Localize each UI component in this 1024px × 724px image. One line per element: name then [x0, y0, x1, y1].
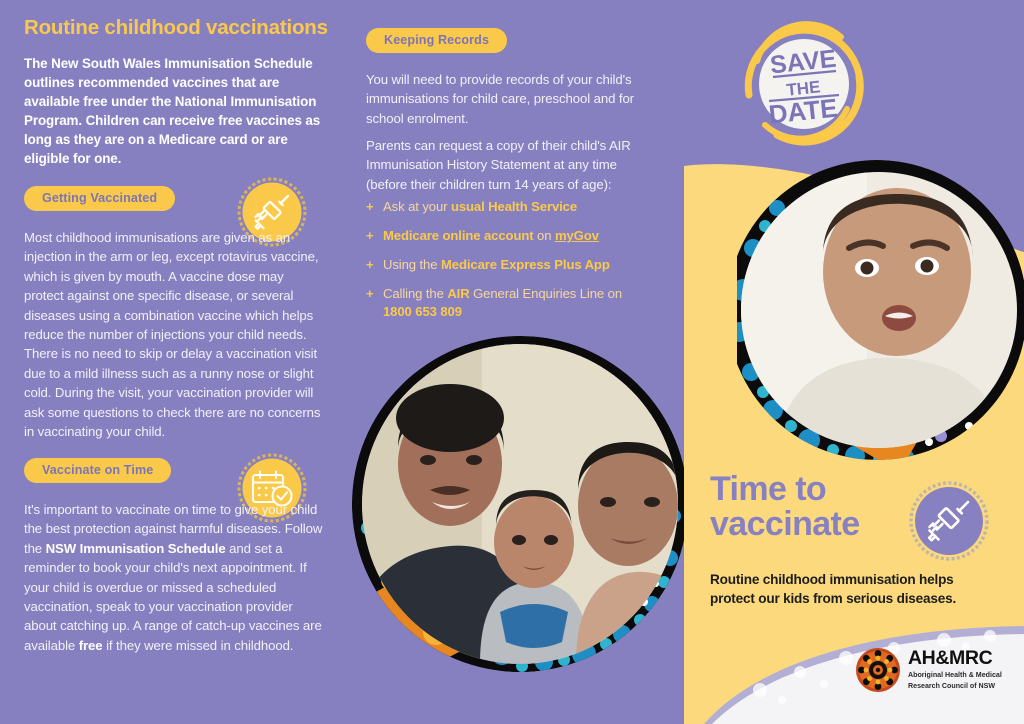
section-pill-label: Getting Vaccinated [24, 186, 175, 211]
left-column: Routine childhood vaccinations The New S… [24, 16, 334, 168]
logo-sub-line2: Research Council of NSW [908, 682, 1002, 691]
plus-bullet-icon: + [366, 257, 374, 274]
tagline-text: Routine childhood immunisation helps pro… [710, 571, 985, 608]
time-to-vaccinate-headline: Time tovaccinate [710, 472, 910, 542]
section-pill-label: Keeping Records [366, 28, 507, 53]
dot-ring-border [352, 336, 688, 672]
logo-name: AH&MRC [908, 649, 1002, 669]
ahmrc-logo: AH&MRC Aboriginal Health & Medical Resea… [855, 647, 1002, 693]
family-photo-dot-circle [352, 336, 688, 672]
vaccinate-on-time-pill: Vaccinate on Time [24, 458, 171, 483]
baby-portrait [737, 160, 1024, 460]
mygov-link[interactable]: myGov [555, 228, 599, 243]
intro-paragraph: The New South Wales Immunisation Schedul… [24, 54, 334, 168]
list-item[interactable]: +Medicare online account on myGov [366, 227, 658, 244]
getting-vaccinated-pill: Getting Vaccinated [24, 186, 175, 211]
page-title: Routine childhood vaccinations [24, 16, 334, 40]
baby-photo-dot-circle [737, 160, 1024, 460]
syringe-badge-icon [908, 480, 990, 562]
ahmrc-logo-text: AH&MRC Aboriginal Health & Medical Resea… [908, 649, 1002, 691]
plus-bullet-icon: + [366, 228, 374, 245]
family-portrait [362, 344, 678, 664]
keeping-records-para1: You will need to provide records of your… [366, 70, 658, 128]
air-phone-number[interactable]: 1800 653 809 [383, 303, 658, 320]
keeping-records-pill: Keeping Records [366, 28, 507, 53]
getting-vaccinated-body: Most childhood immunisations are given a… [24, 228, 324, 441]
vaccinate-on-time-body: It's important to vaccinate on time to g… [24, 500, 324, 655]
logo-sub-line1: Aboriginal Health & Medical [908, 671, 1002, 680]
plus-bullet-icon: + [366, 199, 374, 216]
list-item[interactable]: +Ask at your usual Health Service [366, 198, 658, 215]
save-the-date-badge: SAVE THE DATE [737, 17, 871, 151]
list-item[interactable]: +Using the Medicare Express Plus App [366, 256, 658, 273]
ahmrc-aboriginal-dot-logo-icon [855, 647, 901, 693]
section-pill-label: Vaccinate on Time [24, 458, 171, 483]
plus-bullet-icon: + [366, 286, 374, 303]
keeping-records-para2: Parents can request a copy of their chil… [366, 136, 658, 194]
list-item[interactable]: +Calling the AIR General Enquiries Line … [366, 285, 658, 320]
brochure-page: Routine childhood vaccinations The New S… [0, 0, 1024, 724]
records-options-list: +Ask at your usual Health Service +Medic… [366, 198, 658, 332]
